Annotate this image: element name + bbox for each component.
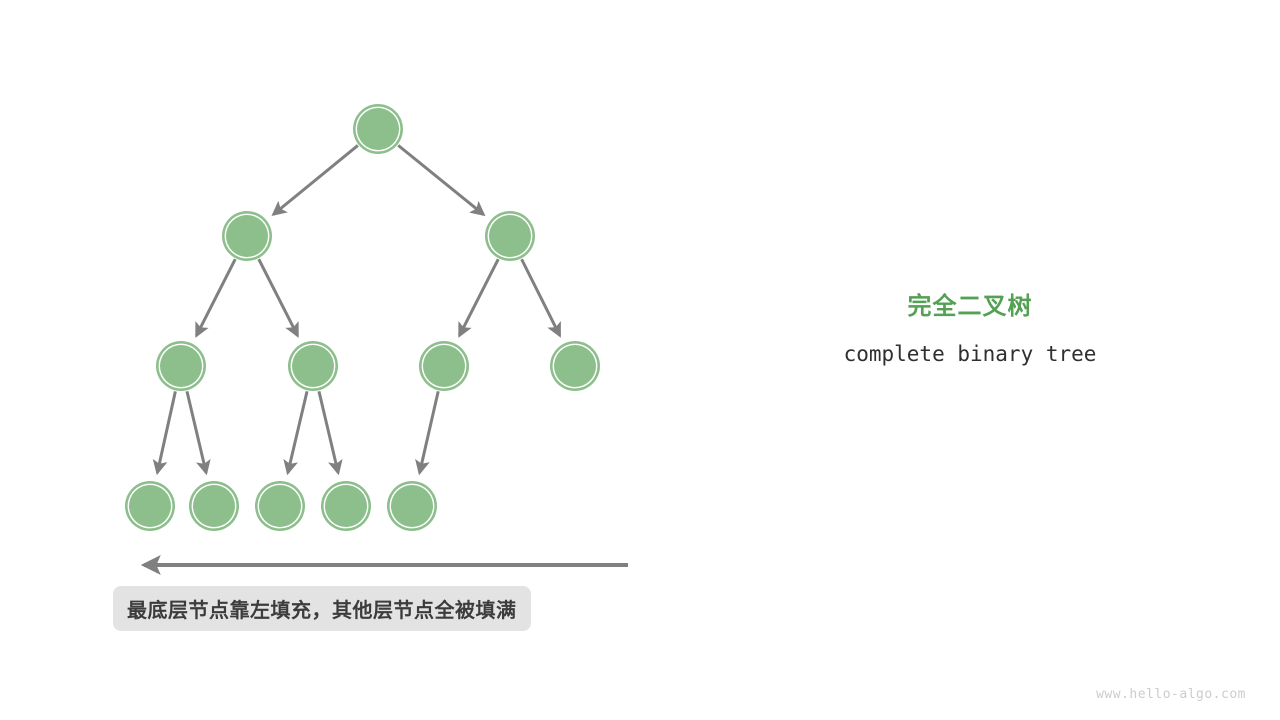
tree-edge [157, 391, 175, 472]
tree-node-core [554, 345, 596, 387]
tree-edge [398, 145, 483, 214]
tree-node-core [325, 485, 367, 527]
tree-node-core [292, 345, 334, 387]
tree-node [288, 341, 338, 391]
tree-node [419, 341, 469, 391]
tree-node-core [391, 485, 433, 527]
tree-node-core [193, 485, 235, 527]
tree-edge [319, 391, 338, 473]
tree-edges [157, 145, 559, 473]
tree-edge [522, 259, 560, 335]
tree-node [387, 481, 437, 531]
tree-edge [420, 391, 439, 473]
tree-edge [196, 259, 235, 335]
tree-edge [259, 259, 298, 335]
watermark: www.hello-algo.com [1096, 687, 1246, 702]
tree-node-core [357, 108, 399, 150]
caption-text: 最底层节点靠左填充，其他层节点全被填满 [127, 594, 517, 623]
tree-node [156, 341, 206, 391]
tree-node-core [226, 215, 268, 257]
tree-node [353, 104, 403, 154]
caption-bar: 最底层节点靠左填充，其他层节点全被填满 [113, 586, 531, 631]
tree-node-core [129, 485, 171, 527]
page-title: 完全二叉树 [760, 292, 1180, 322]
tree-edge [187, 391, 206, 473]
legend-block: 完全二叉树 complete binary tree [760, 292, 1180, 367]
tree-edge [288, 391, 307, 473]
tree-node [321, 481, 371, 531]
tree-node [222, 211, 272, 261]
tree-node [255, 481, 305, 531]
tree-node-core [489, 215, 531, 257]
tree-node [485, 211, 535, 261]
tree-node [125, 481, 175, 531]
tree-node [189, 481, 239, 531]
tree-nodes [125, 104, 600, 531]
tree-edge [459, 259, 498, 335]
tree-node-core [423, 345, 465, 387]
page-subtitle: complete binary tree [760, 341, 1180, 367]
tree-node [550, 341, 600, 391]
tree-node-core [259, 485, 301, 527]
tree-edge [273, 145, 358, 214]
tree-node-core [160, 345, 202, 387]
